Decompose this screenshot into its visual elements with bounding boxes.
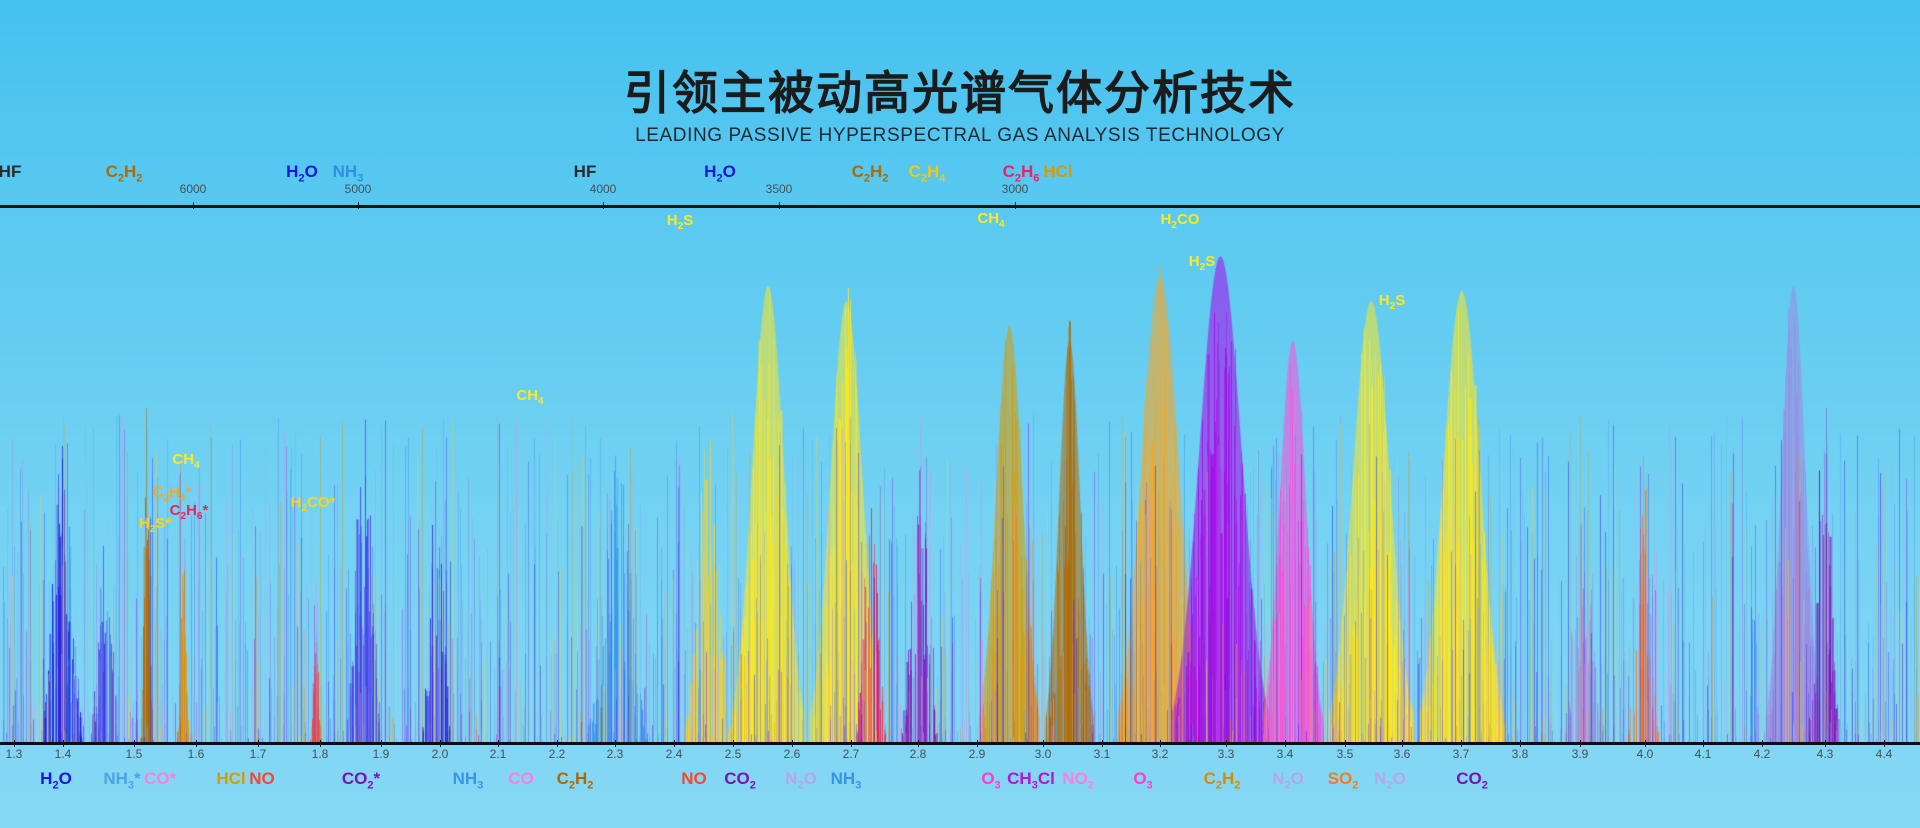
- bottom-species-label: N2O: [1374, 770, 1406, 791]
- bottom-tickmark: [498, 740, 499, 747]
- bottom-tickmark: [557, 740, 558, 747]
- inplot-species-annotation: H2S: [667, 213, 693, 232]
- bottom-tick-label: 2.8: [910, 748, 927, 760]
- bottom-species-label: O3: [981, 770, 1000, 791]
- bottom-tick-label: 1.4: [55, 748, 72, 760]
- bottom-tickmark: [440, 740, 441, 747]
- bottom-tickmark: [733, 740, 734, 747]
- bottom-tick-label: 2.7: [843, 748, 860, 760]
- bottom-tickmark: [1580, 740, 1581, 747]
- bottom-tickmark: [1461, 740, 1462, 747]
- top-tick-label: 3500: [766, 183, 793, 195]
- bottom-tick-label: 2.0: [432, 748, 449, 760]
- page-subtitle: LEADING PASSIVE HYPERSPECTRAL GAS ANALYS…: [0, 125, 1920, 147]
- bottom-species-label: CO2: [1456, 770, 1488, 791]
- top-species-label: C2H2: [106, 163, 143, 184]
- bottom-tick-label: 3.4: [1277, 748, 1294, 760]
- inplot-species-annotation: H2CO: [1161, 212, 1200, 231]
- top-species-label: C2H4: [909, 163, 946, 184]
- bottom-tick-label: 4.4: [1876, 748, 1893, 760]
- bottom-species-label: N2O: [1272, 770, 1304, 791]
- bottom-tickmark: [792, 740, 793, 747]
- bottom-tick-label: 3.0: [1035, 748, 1052, 760]
- bottom-tickmark: [134, 740, 135, 747]
- bottom-species-label: C2H2: [557, 770, 594, 791]
- bottom-species-label: O3: [1133, 770, 1152, 791]
- bottom-axis-tickmarks: [0, 740, 1920, 748]
- bottom-tickmark: [320, 740, 321, 747]
- bottom-tickmark: [977, 740, 978, 747]
- bottom-tickmark: [1043, 740, 1044, 747]
- bottom-tickmark: [1345, 740, 1346, 747]
- inplot-species-annotation: H2S: [1379, 293, 1405, 312]
- bottom-tickmark: [674, 740, 675, 747]
- bottom-tick-label: 1.9: [373, 748, 390, 760]
- bottom-species-label: NO2: [1062, 770, 1094, 791]
- bottom-species-label: NH3: [453, 770, 484, 791]
- bottom-species-label: C2H2: [1204, 770, 1241, 791]
- bottom-tickmark: [381, 740, 382, 747]
- inplot-species-annotation: H2CO*: [291, 495, 336, 514]
- bottom-tick-label: 2.4: [666, 748, 683, 760]
- bottom-tickmark: [1645, 740, 1646, 747]
- bottom-tickmark: [615, 740, 616, 747]
- bottom-tick-label: 2.6: [784, 748, 801, 760]
- bottom-species-label: CO*: [144, 770, 176, 787]
- top-axis-tick-labels: 60005000400035003000: [0, 183, 1920, 203]
- bottom-tickmark: [63, 740, 64, 747]
- bottom-species-label: CH3Cl: [1007, 770, 1055, 791]
- top-species-label: H2O: [704, 163, 736, 184]
- bottom-tickmark: [14, 740, 15, 747]
- bottom-tickmark: [1884, 740, 1885, 747]
- bottom-tickmark: [1762, 740, 1763, 747]
- bottom-tick-label: 4.3: [1817, 748, 1834, 760]
- bottom-tick-label: 3.9: [1572, 748, 1589, 760]
- bottom-tick-label: 1.6: [188, 748, 205, 760]
- page-title: 引领主被动高光谱气体分析技术: [0, 57, 1920, 123]
- bottom-tickmark: [918, 740, 919, 747]
- bottom-tick-label: 3.7: [1453, 748, 1470, 760]
- top-tick-label: 4000: [590, 183, 617, 195]
- bottom-species-label: NO: [681, 770, 707, 787]
- bottom-tick-label: 2.1: [490, 748, 507, 760]
- top-tick-label: 6000: [180, 183, 207, 195]
- bottom-species-label: NH3: [831, 770, 862, 791]
- top-species-label: C2H2: [852, 163, 889, 184]
- bottom-species-label: HCl: [216, 770, 245, 787]
- bottom-tick-label: 1.5: [126, 748, 143, 760]
- inplot-species-annotation: H2S*: [139, 516, 171, 535]
- top-species-label: H2O: [286, 163, 318, 184]
- bottom-tick-label: 4.1: [1695, 748, 1712, 760]
- bottom-tickmark: [1703, 740, 1704, 747]
- bottom-tickmark: [1285, 740, 1286, 747]
- bottom-tick-label: 3.8: [1512, 748, 1529, 760]
- bottom-tick-label: 2.5: [725, 748, 742, 760]
- bottom-tickmark: [1226, 740, 1227, 747]
- bottom-tickmark: [1520, 740, 1521, 747]
- inplot-species-annotation: CH4: [516, 388, 543, 407]
- bottom-species-label: NO: [249, 770, 275, 787]
- bottom-tick-label: 3.2: [1152, 748, 1169, 760]
- bottom-tickmark: [851, 740, 852, 747]
- bottom-axis-tick-labels: 1.31.41.51.61.71.81.92.02.12.22.32.42.52…: [0, 748, 1920, 768]
- bottom-species-label: NH3*: [103, 770, 140, 791]
- inplot-species-annotation: H2S: [1189, 254, 1215, 273]
- bottom-tick-label: 4.0: [1637, 748, 1654, 760]
- bottom-species-label: CO2: [724, 770, 756, 791]
- bottom-tickmark: [1825, 740, 1826, 747]
- inplot-species-annotation: CH4: [977, 211, 1004, 230]
- bottom-tickmark: [1102, 740, 1103, 747]
- inplot-species-annotation: C2H6*: [170, 503, 209, 522]
- top-species-label: HF: [574, 163, 597, 180]
- spectrum-canvas: [0, 208, 1920, 745]
- bottom-species-label: N2O: [785, 770, 817, 791]
- bottom-tickmark: [1402, 740, 1403, 747]
- bottom-tick-label: 2.9: [969, 748, 986, 760]
- bottom-tickmark: [196, 740, 197, 747]
- bottom-tick-label: 2.3: [607, 748, 624, 760]
- bottom-tick-label: 4.2: [1754, 748, 1771, 760]
- bottom-tick-label: 1.7: [250, 748, 267, 760]
- top-species-label: HF: [0, 163, 21, 180]
- bottom-species-label: CO: [508, 770, 534, 787]
- bottom-tickmark: [258, 740, 259, 747]
- bottom-tick-label: 1.8: [312, 748, 329, 760]
- spectrum-plot[interactable]: H2SCH4H2COH2SH2SCH4CH4C2H4*C2H6*H2S*H2CO…: [0, 205, 1920, 745]
- bottom-tick-label: 2.2: [549, 748, 566, 760]
- top-tick-label: 5000: [345, 183, 372, 195]
- bottom-axis-species-labels: H2ONH3*CO*HClNOCO2*NH3COC2H2NOCO2N2ONH3O…: [0, 770, 1920, 798]
- bottom-species-label: SO2: [1328, 770, 1359, 791]
- top-species-label: HCl: [1043, 163, 1072, 180]
- top-tick-label: 3000: [1002, 183, 1029, 195]
- bottom-tick-label: 3.3: [1218, 748, 1235, 760]
- bottom-species-label: H2O: [40, 770, 72, 791]
- bottom-tick-label: 3.5: [1337, 748, 1354, 760]
- bottom-tickmark: [1160, 740, 1161, 747]
- inplot-species-annotation: CH4: [172, 452, 199, 471]
- bottom-tick-label: 3.6: [1394, 748, 1411, 760]
- bottom-tick-label: 1.3: [6, 748, 23, 760]
- bottom-tick-label: 3.1: [1094, 748, 1111, 760]
- bottom-species-label: CO2*: [342, 770, 380, 791]
